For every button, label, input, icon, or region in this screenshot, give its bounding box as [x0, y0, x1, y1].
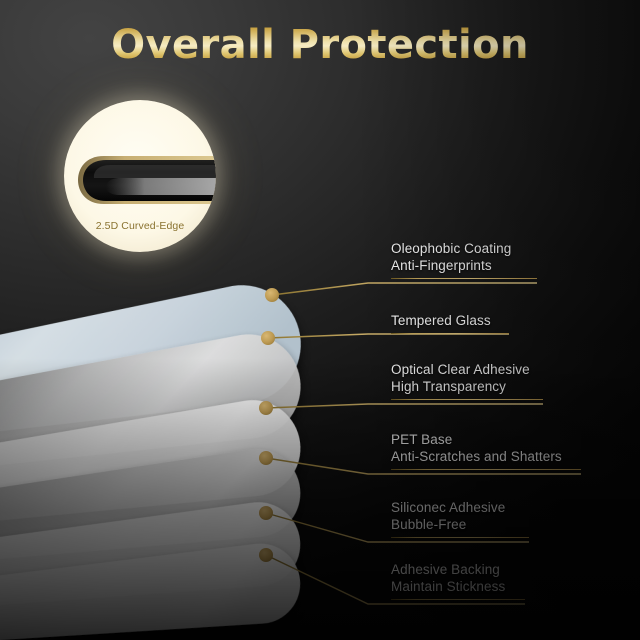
- callout-dot-optical[interactable]: [259, 401, 273, 415]
- callout-underline: [391, 599, 525, 600]
- callout-label-line: Anti-Scratches and Shatters: [391, 448, 581, 465]
- callout-label-line: Oleophobic Coating: [391, 240, 537, 257]
- callout-label-line: Bubble-Free: [391, 516, 529, 533]
- callout-label-silicone: Siliconec AdhesiveBubble-Free: [391, 499, 529, 538]
- callout-underline: [391, 399, 543, 400]
- callout-label-backing: Adhesive BackingMaintain Stickness: [391, 561, 525, 600]
- callout-label-line: Optical Clear Adhesive: [391, 361, 543, 378]
- callout-label-pet: PET BaseAnti-Scratches and Shatters: [391, 431, 581, 470]
- leader-line-optical: [266, 404, 543, 408]
- callout-underline: [391, 469, 581, 470]
- leader-line-oleophobic: [272, 283, 537, 295]
- callout-label-line: Adhesive Backing: [391, 561, 525, 578]
- callout-underline: [391, 278, 537, 279]
- callout-label-oleophobic: Oleophobic CoatingAnti-Fingerprints: [391, 240, 537, 279]
- callout-dot-backing[interactable]: [259, 548, 273, 562]
- screen-protector-layer-stack: [0, 0, 640, 640]
- callout-label-optical: Optical Clear AdhesiveHigh Transparency: [391, 361, 543, 400]
- callout-underline: [391, 537, 529, 538]
- callout-label-line: Siliconec Adhesive: [391, 499, 529, 516]
- callout-label-line: High Transparency: [391, 378, 543, 395]
- curved-edge-closeup-inset: 2.5D Curved-Edge: [64, 100, 216, 252]
- leader-line-tempered: [268, 334, 509, 338]
- callout-dot-silicone[interactable]: [259, 506, 273, 520]
- callout-label-line: Tempered Glass: [391, 312, 509, 329]
- callout-dot-oleophobic[interactable]: [265, 288, 279, 302]
- callout-label-line: PET Base: [391, 431, 581, 448]
- page-title: Overall Protection: [0, 22, 640, 68]
- callout-dot-tempered[interactable]: [261, 331, 275, 345]
- inset-caption: 2.5D Curved-Edge: [64, 220, 216, 232]
- callout-label-line: Maintain Stickness: [391, 578, 525, 595]
- product-infographic: Overall Protection: [0, 0, 640, 640]
- callout-dot-pet[interactable]: [259, 451, 273, 465]
- callout-label-tempered: Tempered Glass: [391, 312, 509, 334]
- callout-label-line: Anti-Fingerprints: [391, 257, 537, 274]
- callout-underline: [391, 333, 509, 334]
